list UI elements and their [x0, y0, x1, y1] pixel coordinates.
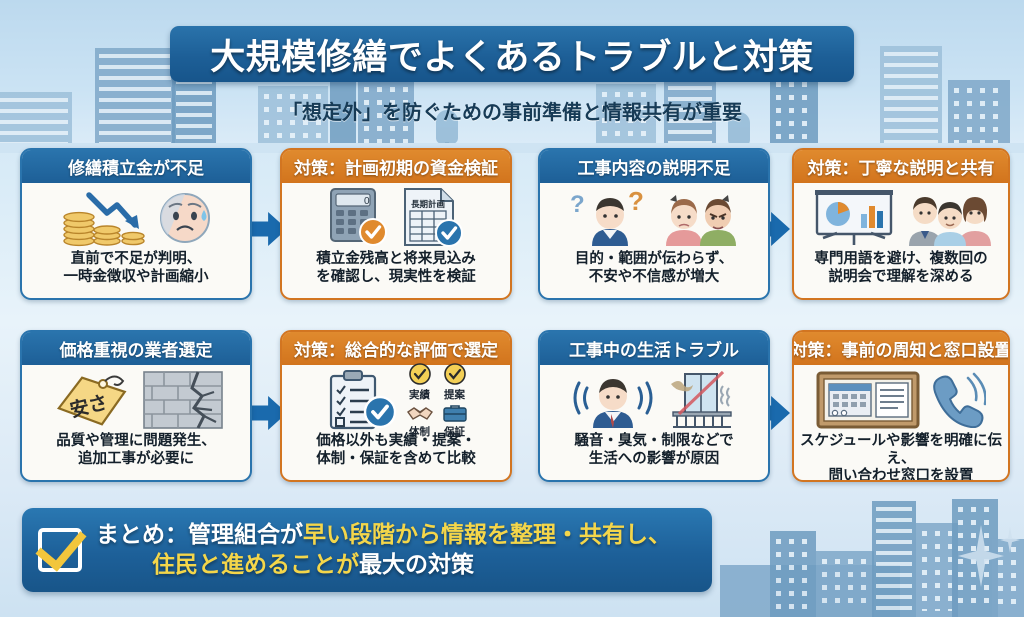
briefcase-icon	[442, 403, 468, 423]
card-body: 騒音・臭気・制限などで 生活への影響が原因	[540, 365, 768, 480]
criterion-label: 提案	[444, 387, 465, 402]
check-circle-icon	[365, 397, 395, 427]
handshake-icon	[407, 403, 433, 423]
card-illustration	[544, 369, 764, 431]
cracked-wall-icon	[142, 370, 224, 430]
people-group-icon	[909, 188, 991, 248]
page-title: 大規模修繕でよくあるトラブルと対策	[210, 29, 814, 80]
card-problem-reserve-fund[interactable]: 修繕積立金が不足	[20, 148, 252, 300]
card-caption: 専門用語を避け、複数回の 説明会で理解を深める	[814, 251, 987, 286]
card-caption: スケジュールや影響を明確に伝え、 問い合わせ窓口を設置	[798, 433, 1004, 482]
card-caption: 直前で不足が判明、 一時金徴収や計画縮小	[64, 251, 209, 286]
card-measure-advance-notice-contact[interactable]: 対策：事前の周知と窓口設置	[792, 330, 1010, 482]
criterion-achievements: 実績	[407, 362, 433, 402]
presentation-board-icon	[811, 188, 901, 248]
card-body: ? ?	[540, 183, 768, 298]
angry-residents-icon	[664, 188, 738, 248]
criterion-proposal: 提案	[442, 362, 468, 402]
balcony-restriction-icon	[663, 370, 737, 430]
summary-line2-yellow: 住民と進めることが	[152, 551, 359, 577]
criterion-label: 体制	[409, 424, 430, 439]
phone-ringing-icon	[928, 372, 986, 428]
card-heading: 工事中の生活トラブル	[540, 332, 768, 365]
question-mark-icon: ?	[570, 191, 585, 218]
long-term-plan-document-icon: 長期計画	[399, 187, 465, 249]
calculator-icon: 0	[327, 187, 391, 249]
question-mark-icon: ?	[628, 188, 644, 216]
noise-person-icon	[571, 370, 655, 430]
card-caption: 品質や管理に問題発生、 追加工事が必要に	[56, 433, 216, 468]
clipboard-checklist-icon	[325, 370, 399, 430]
evaluation-criteria-group: 実績 提案 体制	[407, 362, 468, 439]
summary-line1-yellow: 早い段階から情報を整理・共有し、	[303, 521, 671, 547]
card-measure-comprehensive-evaluation[interactable]: 対策：総合的な評価で選定	[280, 330, 512, 482]
summary-line1-white: まとめ：管理組合が	[96, 521, 303, 547]
card-body: 専門用語を避け、複数回の 説明会で理解を深める	[794, 183, 1008, 298]
summary-text: まとめ：管理組合が早い段階から情報を整理・共有し、 住民と進めることが最大の対策	[96, 520, 671, 580]
card-heading: 対策：事前の周知と窓口設置	[794, 332, 1008, 365]
card-illustration: 0 長期計画	[286, 187, 506, 249]
card-caption: 騒音・臭気・制限などで 生活への影響が原因	[574, 433, 733, 468]
coin-stack-icon	[59, 189, 151, 247]
svg-text:0: 0	[364, 196, 370, 207]
criterion-label: 実績	[409, 387, 430, 402]
page-title-banner: 大規模修繕でよくあるトラブルと対策	[170, 26, 854, 82]
summary-banner: まとめ：管理組合が早い段階から情報を整理・共有し、 住民と進めることが最大の対策	[22, 508, 712, 592]
card-heading: 修繕積立金が不足	[22, 150, 250, 183]
card-illustration: ? ?	[544, 187, 764, 249]
card-illustration: 実績 提案 体制	[286, 369, 506, 431]
page-subtitle: 「想定外」を防ぐための事前準備と情報共有が重要	[0, 96, 1024, 125]
card-body: 実績 提案 体制	[282, 365, 510, 480]
card-caption: 目的・範囲が伝わらず、 不安や不信感が増大	[575, 251, 733, 286]
summary-line2-white: 最大の対策	[359, 551, 474, 577]
criterion-organization: 体制	[407, 403, 433, 439]
check-circle-icon	[443, 362, 467, 386]
notice-board-icon	[816, 371, 920, 429]
checked-box-icon	[38, 528, 82, 572]
worried-face-icon	[159, 190, 213, 246]
check-circle-icon	[408, 362, 432, 386]
check-circle-icon	[360, 219, 386, 245]
document-title-text: 長期計画	[411, 199, 445, 209]
card-problem-poor-explanation[interactable]: 工事内容の説明不足 ? ?	[538, 148, 770, 300]
card-measure-fund-verification[interactable]: 対策：計画初期の資金検証 0	[280, 148, 512, 300]
card-heading: 対策：丁寧な説明と共有	[794, 150, 1008, 183]
card-heading: 対策：計画初期の資金検証	[282, 150, 510, 183]
infographic-canvas: 大規模修繕でよくあるトラブルと対策 「想定外」を防ぐための事前準備と情報共有が重…	[0, 0, 1024, 617]
criterion-warranty: 保証	[442, 403, 468, 439]
bar-chart-icon	[861, 214, 867, 228]
card-illustration: 安さ	[26, 369, 246, 431]
price-tag-icon: 安さ	[48, 370, 134, 430]
card-heading: 価格重視の業者選定	[22, 332, 250, 365]
card-heading: 工事内容の説明不足	[540, 150, 768, 183]
card-body: 直前で不足が判明、 一時金徴収や計画縮小	[22, 183, 250, 298]
check-circle-icon	[436, 220, 462, 246]
card-illustration	[798, 369, 1004, 431]
card-problem-living-disruption[interactable]: 工事中の生活トラブル	[538, 330, 770, 482]
card-illustration	[798, 187, 1004, 249]
card-measure-careful-explanation[interactable]: 対策：丁寧な説明と共有	[792, 148, 1010, 300]
card-caption: 積立金残高と将来見込み を確認し、現実性を検証	[316, 251, 476, 286]
card-body: 0 長期計画	[282, 183, 510, 298]
confused-person-icon: ? ?	[570, 188, 656, 248]
summary-line-2: 住民と進めることが最大の対策	[96, 550, 671, 580]
card-problem-price-focused-selection[interactable]: 価格重視の業者選定 安さ	[20, 330, 252, 482]
criterion-label: 保証	[444, 424, 465, 439]
card-body: スケジュールや影響を明確に伝え、 問い合わせ窓口を設置	[794, 365, 1008, 482]
card-body: 安さ 品質や管理に問題発生、 追加工事が必要に	[22, 365, 250, 480]
card-illustration	[26, 187, 246, 249]
card-heading: 対策：総合的な評価で選定	[282, 332, 510, 365]
summary-line-1: まとめ：管理組合が早い段階から情報を整理・共有し、	[96, 520, 671, 550]
